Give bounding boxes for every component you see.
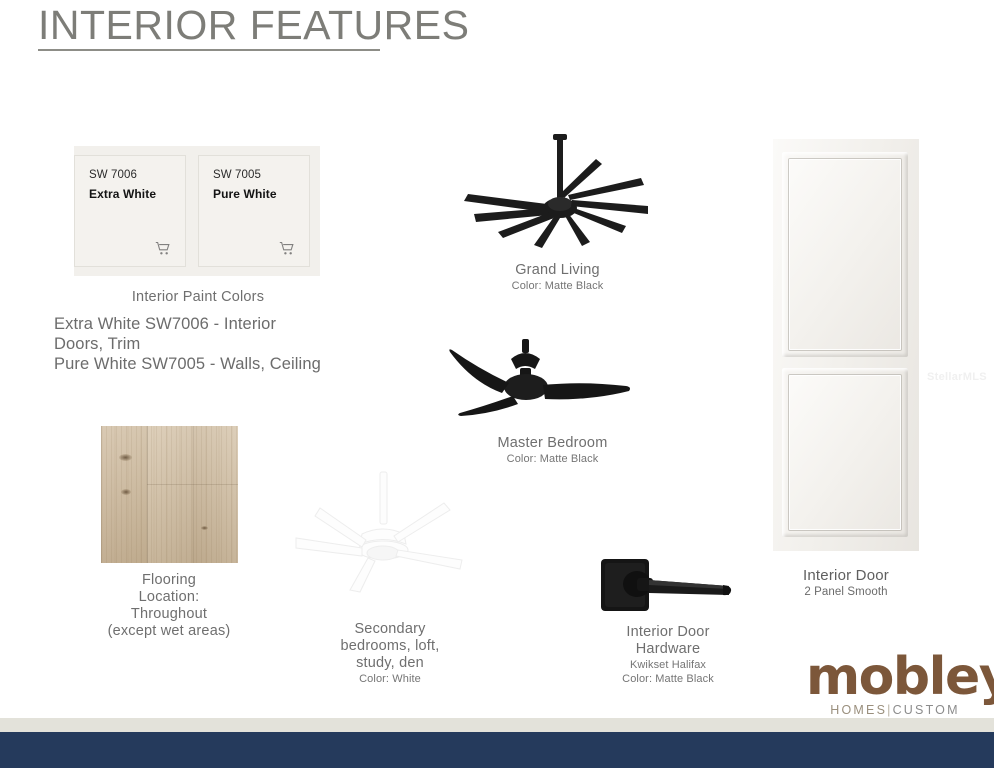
title-underline [38, 49, 380, 51]
flooring-caption: Flooring Location: Throughout (except we… [74, 572, 264, 640]
fan-color: Color: Matte Black [455, 279, 660, 293]
paint-swatch-extra-white[interactable]: SW 7006 Extra White [74, 155, 186, 267]
fan-color: Color: White [315, 672, 465, 686]
plank-seam-vertical [147, 426, 148, 563]
fan-caption-master-bedroom: Master Bedroom Color: Matte Black [435, 435, 670, 466]
ceiling-fan-icon-grand-living [452, 128, 668, 258]
fan-name-line-3: study, den [315, 655, 465, 672]
paint-colors-caption: Interior Paint Colors [74, 289, 322, 305]
paint-swatch-name: Extra White [89, 187, 156, 201]
wood-knot-icon [119, 454, 132, 461]
paint-description-line-2: Doors, Trim [54, 334, 384, 354]
fan-name: Grand Living [455, 262, 660, 279]
flooring-swatch-image [101, 426, 238, 563]
logo-wordmark: mobley [806, 652, 984, 702]
door-panel-upper [789, 159, 901, 350]
shopping-cart-icon[interactable] [155, 241, 171, 256]
page-title: INTERIOR FEATURES [38, 2, 469, 48]
paint-swatch-card: SW 7006 Extra White SW 7005 Pure White [74, 146, 320, 276]
hardware-line-3: Kwikset Halifax [590, 658, 746, 672]
ceiling-fan-icon-secondary [288, 468, 478, 598]
door-lever-handle-icon [597, 553, 737, 624]
footer-bar [0, 732, 994, 768]
paint-swatch-pure-white[interactable]: SW 7005 Pure White [198, 155, 310, 267]
fan-caption-secondary: Secondary bedrooms, loft, study, den Col… [315, 621, 465, 686]
door-panel-lower [789, 375, 901, 530]
fan-color: Color: Matte Black [435, 452, 670, 466]
shopping-cart-icon[interactable] [279, 241, 295, 256]
flooring-caption-line-2: Location: [74, 589, 264, 606]
logo-tagline-right: CUSTOM [893, 703, 960, 717]
logo-tagline-left: HOMES [830, 703, 887, 717]
interior-door-caption: Interior Door 2 Panel Smooth [750, 566, 942, 599]
flooring-caption-line-1: Flooring [74, 572, 264, 589]
paint-description-line-3: Pure White SW7005 - Walls, Ceiling [54, 354, 384, 374]
wood-grain-texture [101, 426, 238, 563]
paint-swatch-code: SW 7005 [213, 169, 261, 181]
fan-name: Master Bedroom [435, 435, 670, 452]
fan-name-line-1: Secondary [315, 621, 465, 638]
footer-strip [0, 718, 994, 732]
fan-caption-grand-living: Grand Living Color: Matte Black [455, 262, 660, 293]
page-title-group: INTERIOR FEATURES [38, 2, 469, 51]
door-title: Interior Door [750, 566, 942, 585]
plank-seam-horizontal [147, 484, 238, 485]
ceiling-fan-icon-master-bedroom [443, 335, 643, 440]
watermark: StellarMLS [927, 371, 987, 383]
interior-door-icon [773, 139, 919, 551]
hardware-line-4: Color: Matte Black [590, 672, 746, 686]
flooring-caption-line-3: Throughout [74, 606, 264, 623]
fan-name-line-2: bedrooms, loft, [315, 638, 465, 655]
wood-knot-icon [121, 489, 131, 495]
door-hardware-caption: Interior Door Hardware Kwikset Halifax C… [590, 624, 746, 686]
wood-knot-icon [201, 526, 208, 530]
hardware-line-1: Interior Door [590, 624, 746, 641]
paint-swatch-code: SW 7006 [89, 169, 137, 181]
slide-canvas: INTERIOR FEATURES SW 7006 Extra White SW… [0, 0, 994, 768]
logo-tagline: HOMES|CUSTOM [806, 703, 984, 717]
paint-description-line-1: Extra White SW7006 - Interior [54, 314, 384, 334]
flooring-caption-line-4: (except wet areas) [74, 623, 264, 640]
door-subtitle: 2 Panel Smooth [750, 585, 942, 599]
mobley-logo: mobley HOMES|CUSTOM [806, 652, 984, 717]
paint-swatch-name: Pure White [213, 187, 277, 201]
paint-description: Extra White SW7006 - Interior Doors, Tri… [54, 314, 384, 374]
hardware-line-2: Hardware [590, 641, 746, 658]
